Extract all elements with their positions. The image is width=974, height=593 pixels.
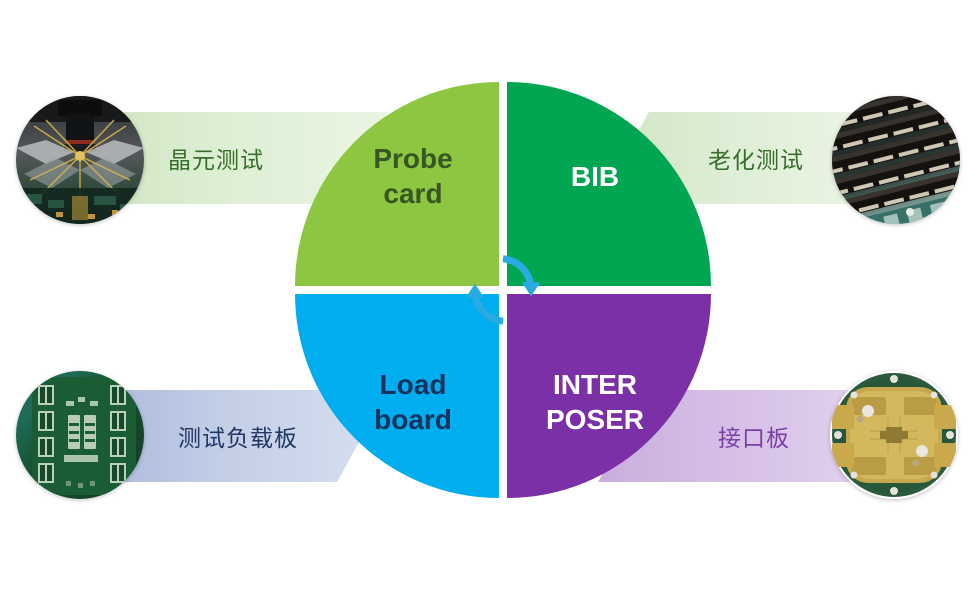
quadrant-load-board-label: Load board	[374, 367, 452, 437]
quadrant-interposer-label: INTER POSER	[546, 367, 644, 437]
banner-load-board-test-label: 测试负载板	[178, 419, 298, 453]
photo-probe-card-machine	[16, 96, 144, 224]
diagram-canvas: 晶元测试 老化测试 测试负载板 接口板 Probe card BIB Load …	[0, 0, 974, 593]
refresh-cycle-icon	[464, 251, 542, 329]
probe-card-machine-photo	[16, 96, 144, 224]
photo-interposer-board	[830, 371, 958, 499]
photo-burn-in-board	[832, 96, 960, 224]
quadrant-bib-label: BIB	[571, 159, 619, 194]
load-board-pcb-photo	[16, 371, 144, 499]
interposer-board-photo	[830, 371, 958, 499]
banner-interface-board-label: 接口板	[718, 419, 790, 453]
banner-burn-in-test-label: 老化测试	[708, 141, 804, 175]
banner-wafer-test-label: 晶元测试	[168, 141, 264, 175]
quadrant-probe-card-label: Probe card	[373, 141, 452, 211]
burn-in-board-photo	[832, 96, 960, 224]
photo-load-board-pcb	[16, 371, 144, 499]
quadrant-circle: Probe card BIB Load board INTER POSER	[295, 82, 711, 498]
